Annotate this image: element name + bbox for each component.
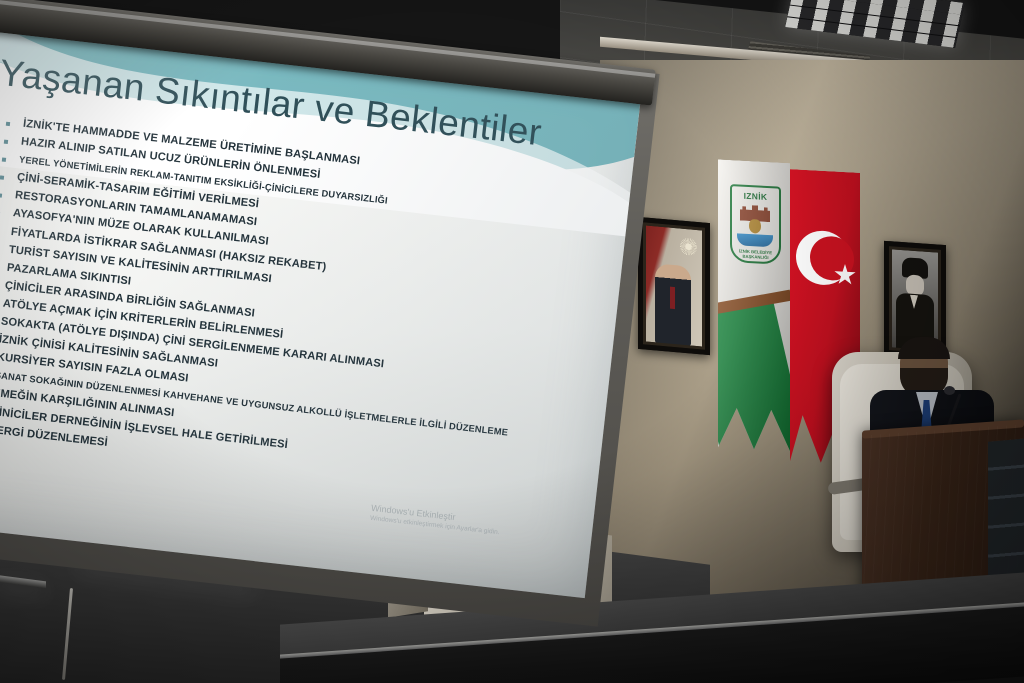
president-portrait	[638, 217, 710, 355]
iznik-municipality-banner: IZNİK İZNİK BELEDİYE BAŞKANLIĞI	[718, 159, 790, 451]
slide-bullet-list: İZNİK'TE HAMMADDE VE MALZEME ÜRETİMİNE B…	[0, 114, 617, 507]
bullet-marker-icon	[4, 140, 8, 144]
bullet-marker-icon	[0, 194, 2, 198]
bullet-marker-icon	[0, 176, 4, 180]
bullet-marker-icon	[2, 158, 6, 162]
windows-activation-watermark: Windows'u Etkinleştir Windows'u etkinleş…	[370, 503, 502, 536]
presentation-slide: Yaşanan Sıkıntılar ve Beklentiler İZNİK'…	[0, 14, 642, 598]
conference-room-photo: IZNİK İZNİK BELEDİYE BAŞKANLIĞI	[0, 0, 1024, 683]
microphone-icon	[944, 386, 955, 395]
projection-screen: Yaşanan Sıkıntılar ve Beklentiler İZNİK'…	[0, 14, 642, 598]
bullet-marker-icon	[6, 122, 10, 126]
